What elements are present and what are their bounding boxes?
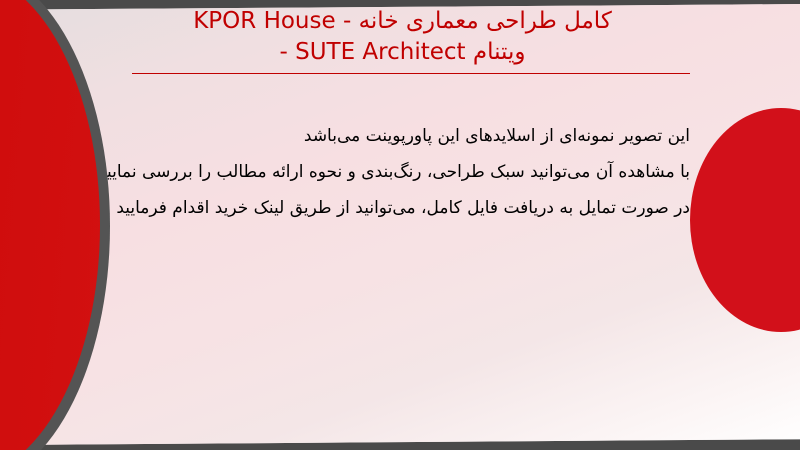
slide-body-text: این تصویر نمونه‌ای از اسلایدهای این پاور… xyxy=(130,118,690,226)
title-underline-rule xyxy=(132,73,690,74)
slide-content-panel: کامل طراحی معماری خانه - KPOR House ویتن… xyxy=(0,0,800,450)
body-line-1: این تصویر نمونه‌ای از اسلایدهای این پاور… xyxy=(130,118,690,154)
title-line-1: کامل طراحی معماری خانه - KPOR House xyxy=(110,6,695,37)
body-line-3: در صورت تمایل به دریافت فایل کامل، می‌تو… xyxy=(130,190,690,226)
title-line-2: ویتنام SUTE Architect - xyxy=(110,37,695,68)
body-line-2: با مشاهده آن می‌توانید سبک طراحی، رنگ‌بن… xyxy=(130,154,690,190)
slide-title: کامل طراحی معماری خانه - KPOR House ویتن… xyxy=(110,6,695,68)
presentation-slide: کامل طراحی معماری خانه - KPOR House ویتن… xyxy=(0,0,800,450)
